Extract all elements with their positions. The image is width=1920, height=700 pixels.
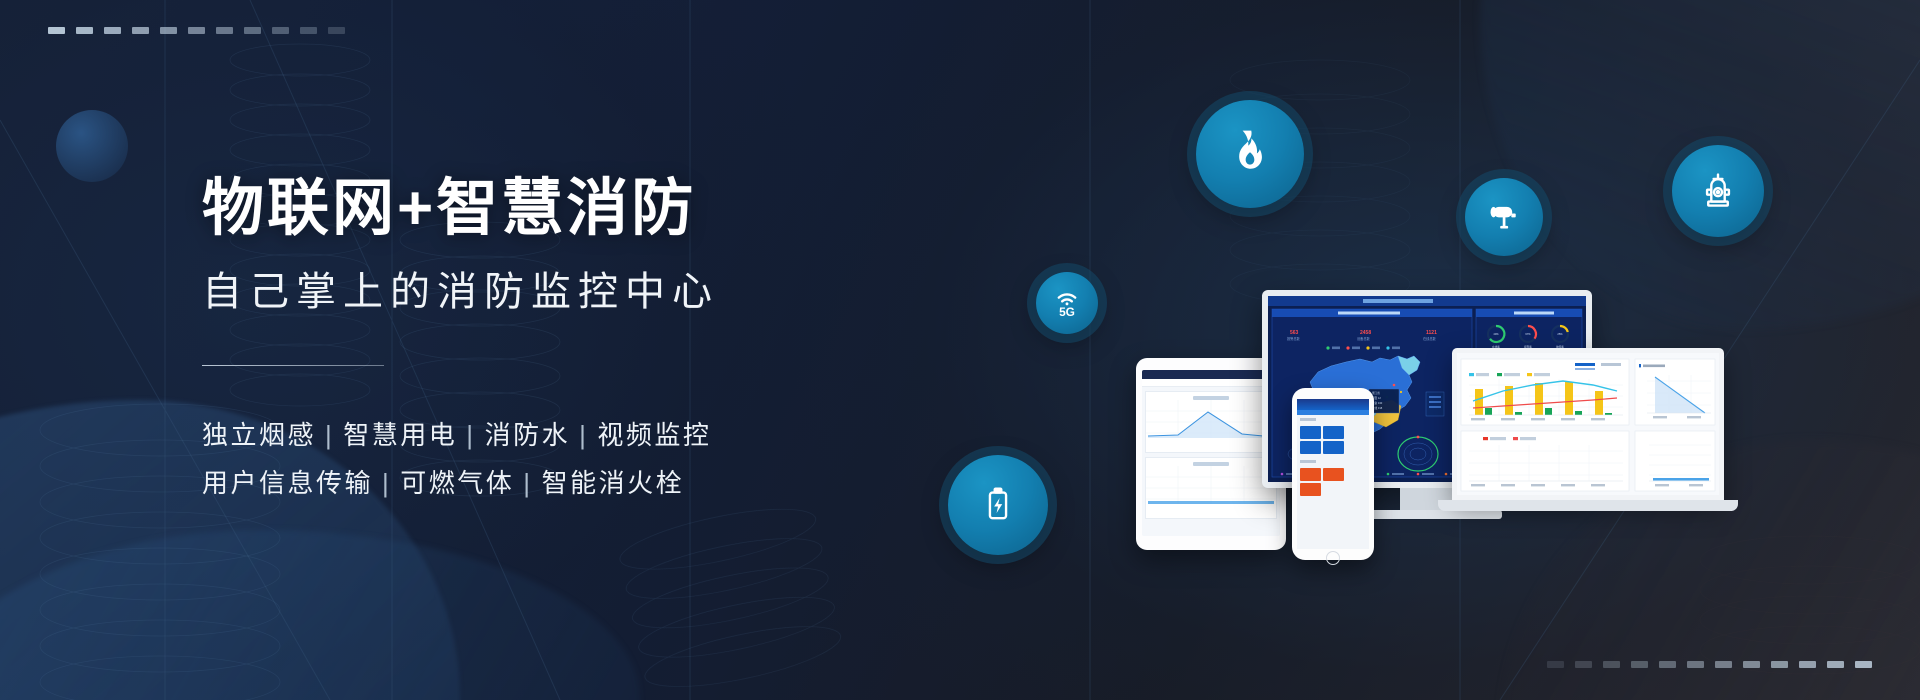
hero-text-block: 物联网+智慧消防 自己掌上的消防监控中心 独立烟感|智慧用电|消防水|视频监控用… xyxy=(202,172,962,507)
feature-item: 消防水 xyxy=(485,420,571,450)
phone-tile[interactable] xyxy=(1300,426,1321,439)
decorative-dash xyxy=(216,27,233,34)
camera-icon xyxy=(1485,198,1523,236)
feature-list: 独立烟感|智慧用电|消防水|视频监控用户信息传输|可燃气体|智能消火栓 xyxy=(202,411,962,507)
decorative-dash xyxy=(1687,661,1704,668)
laptop-base xyxy=(1438,500,1738,511)
decorative-dash xyxy=(1715,661,1732,668)
decorative-dash-row-bottom-right xyxy=(1547,661,1872,668)
feature-item: 视频监控 xyxy=(597,420,711,450)
5g-icon: 5G xyxy=(1050,286,1084,320)
decorative-dash xyxy=(1855,661,1872,668)
decorative-dash xyxy=(1771,661,1788,668)
phone-tile-grid-red xyxy=(1297,465,1369,499)
feature-line: 用户信息传输|可燃气体|智能消火栓 xyxy=(202,459,962,507)
svg-text:25%: 25% xyxy=(1557,332,1563,336)
page-subtitle: 自己掌上的消防监控中心 xyxy=(202,267,962,317)
decorative-dash xyxy=(188,27,205,34)
battery-icon xyxy=(976,483,1020,527)
phone-tile[interactable] xyxy=(1300,441,1321,454)
decorative-dash xyxy=(272,27,289,34)
background-circle-accent xyxy=(56,110,128,182)
phone-tile[interactable] xyxy=(1323,468,1344,481)
tablet-screen xyxy=(1142,370,1280,536)
phone-tile[interactable] xyxy=(1300,468,1321,481)
hydrant-icon xyxy=(1695,168,1741,214)
decorative-dash xyxy=(1631,661,1648,668)
decorative-dash xyxy=(300,27,317,34)
decorative-dash xyxy=(1603,661,1620,668)
hydrant-icon-badge[interactable] xyxy=(1672,145,1764,237)
flame-icon-badge[interactable] xyxy=(1196,100,1304,208)
decorative-dash xyxy=(1743,661,1760,668)
flame-icon xyxy=(1224,128,1276,180)
feature-item: 智慧用电 xyxy=(343,420,457,450)
background-blob-bottom-left-2 xyxy=(0,530,640,700)
laptop-lid xyxy=(1452,348,1724,500)
feature-separator: | xyxy=(316,420,343,450)
svg-text:在线总数: 在线总数 xyxy=(1423,336,1437,341)
decorative-dash xyxy=(244,27,261,34)
tablet-chart-card-1 xyxy=(1145,391,1277,453)
laptop-mockup xyxy=(1452,348,1752,530)
feature-item: 智能消火栓 xyxy=(542,468,685,498)
decorative-dash xyxy=(48,27,65,34)
svg-text:1121: 1121 xyxy=(1426,330,1437,336)
svg-text:设备总数: 设备总数 xyxy=(1357,336,1371,341)
phone-home-button[interactable] xyxy=(1326,551,1340,565)
feature-item: 独立烟感 xyxy=(202,420,316,450)
phone-tile[interactable] xyxy=(1323,426,1344,439)
feature-item: 用户信息传输 xyxy=(202,468,373,498)
page-title: 物联网+智慧消防 xyxy=(202,172,962,245)
feature-separator: | xyxy=(570,420,597,450)
5g-icon-badge[interactable]: 5G xyxy=(1036,272,1098,334)
feature-line: 独立烟感|智慧用电|消防水|视频监控 xyxy=(202,411,962,459)
phone-mockup xyxy=(1292,388,1374,560)
phone-section-label-2 xyxy=(1300,460,1316,463)
decorative-dash xyxy=(1575,661,1592,668)
phone-section-label-1 xyxy=(1300,418,1316,421)
decorative-dash xyxy=(1659,661,1676,668)
decorative-dash xyxy=(1547,661,1564,668)
svg-text:563: 563 xyxy=(1290,330,1299,336)
phone-tile[interactable] xyxy=(1323,441,1344,454)
svg-text:67%: 67% xyxy=(1525,332,1531,336)
svg-text:40%: 40% xyxy=(1493,332,1499,336)
decorative-dash xyxy=(160,27,177,34)
tablet-app-bar xyxy=(1142,370,1280,379)
tablet-chart-card-2 xyxy=(1145,457,1277,519)
decorative-dash-row-top-left xyxy=(48,27,345,34)
feature-item: 可燃气体 xyxy=(400,468,514,498)
phone-screen xyxy=(1297,399,1369,549)
svg-text:报警总数: 报警总数 xyxy=(1287,336,1301,341)
phone-tile[interactable] xyxy=(1300,483,1321,496)
svg-text:5G: 5G xyxy=(1059,305,1075,319)
phone-tile-grid-blue xyxy=(1297,423,1369,457)
decorative-dash xyxy=(1827,661,1844,668)
laptop-dashboard-graphic xyxy=(1457,353,1719,495)
feature-separator: | xyxy=(514,468,541,498)
decorative-dash xyxy=(76,27,93,34)
decorative-dash xyxy=(132,27,149,34)
feature-separator: | xyxy=(373,468,400,498)
hero-banner: 物联网+智慧消防 自己掌上的消防监控中心 独立烟感|智慧用电|消防水|视频监控用… xyxy=(0,0,1920,700)
decorative-dash xyxy=(1799,661,1816,668)
title-divider xyxy=(202,365,384,366)
svg-text:2458: 2458 xyxy=(1360,330,1371,336)
decorative-dash xyxy=(328,27,345,34)
decorative-dash xyxy=(104,27,121,34)
device-mockup-cluster: 56324581121 报警总数设备总数在线总数 xyxy=(1120,290,1880,590)
feature-separator: | xyxy=(457,420,484,450)
laptop-screen xyxy=(1457,353,1719,495)
camera-icon-badge[interactable] xyxy=(1465,178,1543,256)
svg-text:浙江省: 浙江省 xyxy=(1372,391,1380,395)
battery-icon-badge[interactable] xyxy=(948,455,1048,555)
